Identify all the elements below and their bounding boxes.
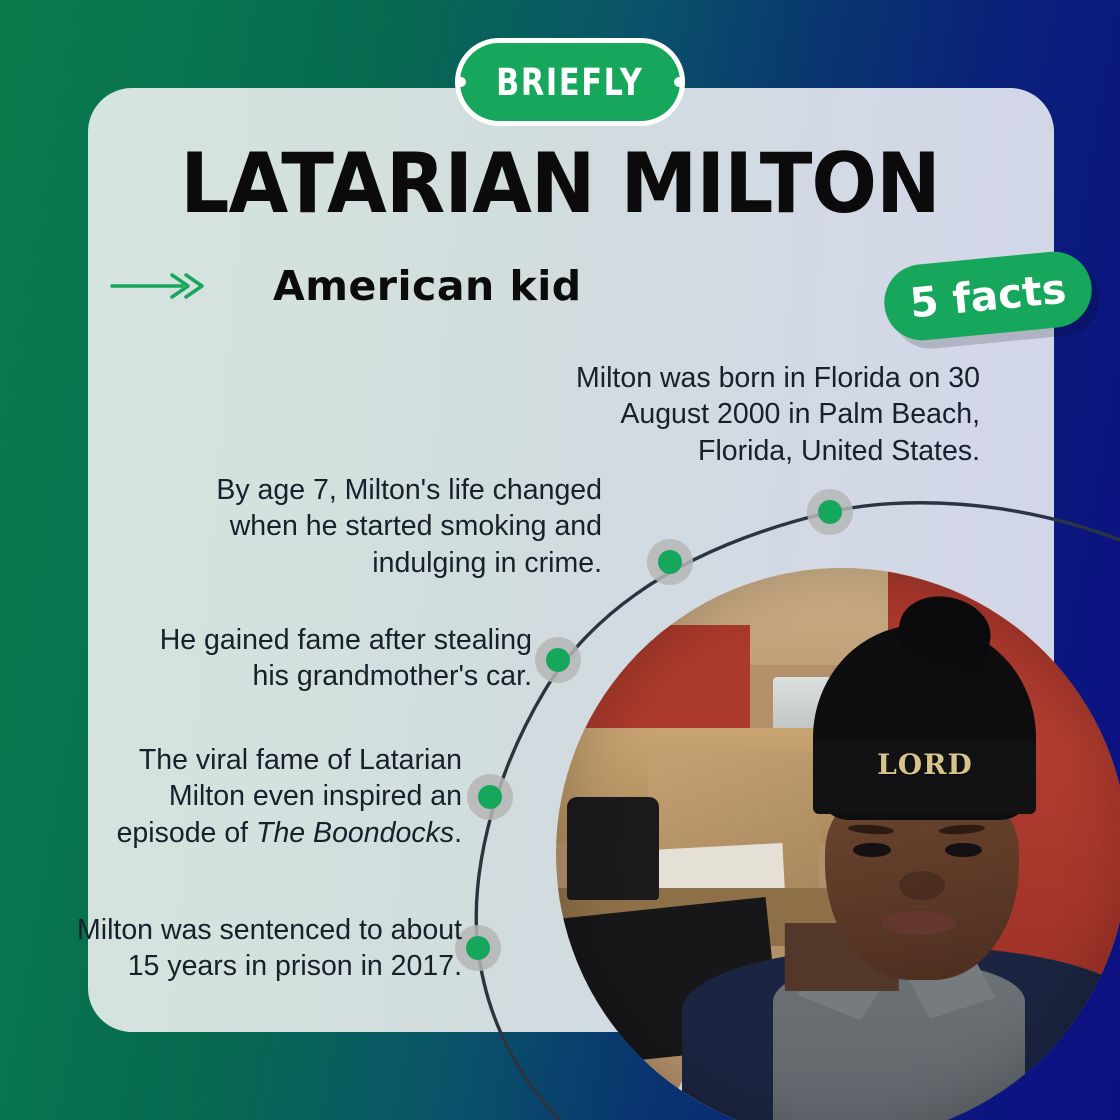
page-title: LATARIAN MILTON — [39, 142, 1081, 225]
fact-item-5: Milton was sentenced to about 15 years i… — [70, 912, 462, 985]
photo-vignette — [556, 568, 1120, 1120]
fact-4-tail: . — [454, 817, 462, 849]
fact-item-2: By age 7, Milton's life changed when he … — [200, 472, 602, 581]
portrait-photo: LORD — [556, 568, 1120, 1120]
portrait-photo-image: LORD — [556, 568, 1120, 1120]
fact-item-3: He gained fame after stealing his grandm… — [120, 622, 532, 695]
briefly-logo-badge: BRIEFLY — [455, 38, 685, 126]
double-chevron-right-arrow-icon — [110, 268, 205, 304]
infographic-poster: LATARIAN MILTON American kid 5 facts — [0, 0, 1120, 1120]
fact-item-4: The viral fame of Latarian Milton even i… — [62, 742, 462, 851]
fact-4-title-italic: The Boondocks — [256, 817, 454, 849]
subtitle-row: American kid — [110, 262, 582, 310]
briefly-logo-label: BRIEFLY — [496, 61, 643, 104]
subtitle-text: American kid — [273, 262, 582, 310]
briefly-dot-left-icon — [456, 77, 466, 87]
facts-count-label: 5 facts — [908, 265, 1069, 328]
fact-item-1: Milton was born in Florida on 30 August … — [548, 360, 980, 469]
briefly-dot-right-icon — [674, 77, 684, 87]
